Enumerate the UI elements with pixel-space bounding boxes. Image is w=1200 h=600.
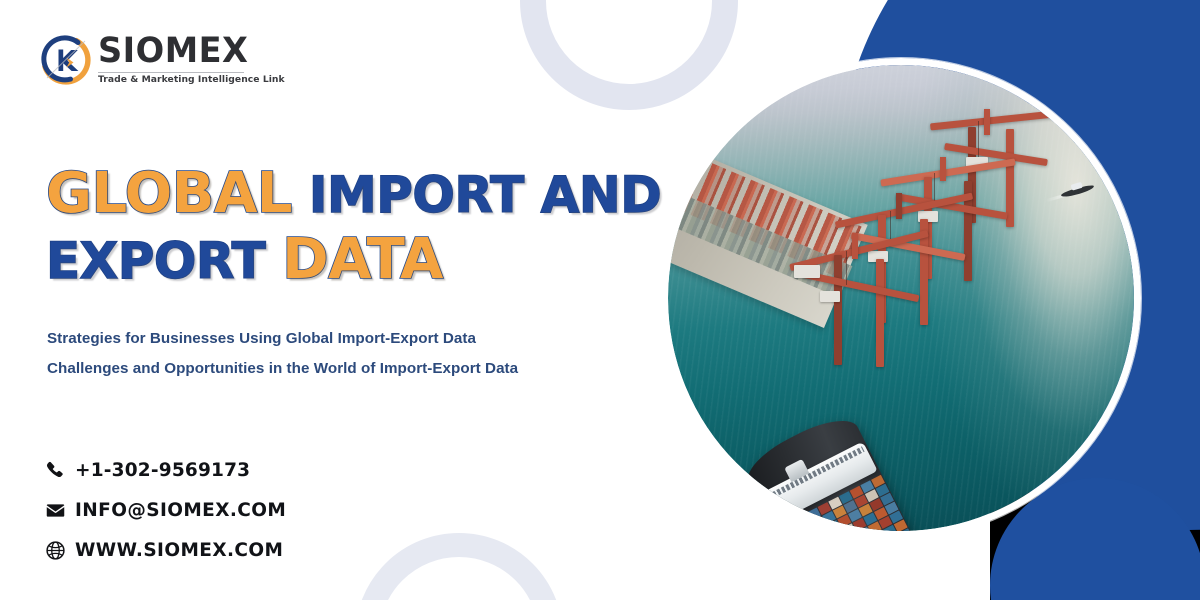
headline-word-export: EXPORT [46,232,265,290]
headline-word-import-and: IMPORT AND [309,166,661,224]
lavender-ring-bottom-left [355,533,563,600]
logo-divider [98,72,244,73]
website-url: WWW.SIOMEX.COM [75,540,283,561]
subtitle-line-2: Challenges and Opportunities in the Worl… [47,354,647,384]
contact-row-email[interactable]: INFO@SIOMEX.COM [45,490,286,530]
page-title: GLOBAL IMPORT AND EXPORT DATA [46,166,666,298]
container-ship-port-aerial-photo [661,58,1141,538]
headline-line-1: GLOBAL IMPORT AND [46,166,666,222]
subtitle-line-1: Strategies for Businesses Using Global I… [47,324,647,354]
siomex-logo[interactable]: SIOMEX Trade & Marketing Intelligence Li… [38,32,285,88]
globe-icon [45,540,75,561]
email-address: INFO@SIOMEX.COM [75,500,286,521]
headline-word-data: DATA [282,227,443,292]
envelope-icon [45,500,75,521]
siomex-circular-swoosh-logo-icon [38,32,94,88]
headline-line-2: EXPORT DATA [46,232,666,288]
logo-tagline: Trade & Marketing Intelligence Link [98,75,285,85]
phone-icon [45,460,75,480]
logo-wordmark: SIOMEX [98,34,277,69]
headline-word-global: GLOBAL [46,161,292,226]
contact-details: +1-302-9569173 INFO@SIOMEX.COM [45,450,286,570]
contact-row-website[interactable]: WWW.SIOMEX.COM [45,530,286,570]
banner-root: SIOMEX Trade & Marketing Intelligence Li… [0,0,1200,600]
subtitle: Strategies for Businesses Using Global I… [47,324,647,383]
phone-number: +1-302-9569173 [75,460,250,481]
contact-row-phone[interactable]: +1-302-9569173 [45,450,286,490]
